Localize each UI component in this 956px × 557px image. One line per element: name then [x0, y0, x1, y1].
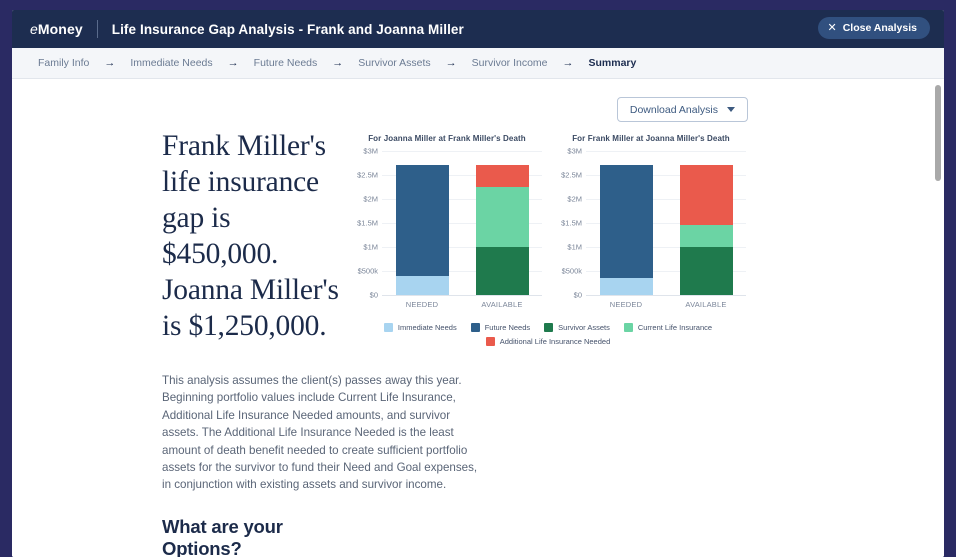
chart-bars [586, 151, 746, 295]
bar-needed[interactable] [396, 151, 449, 295]
close-analysis-button[interactable]: ✕ Close Analysis [818, 17, 930, 39]
chart-bars [382, 151, 542, 295]
emoney-logo: eMoney [30, 21, 83, 37]
bar-segment-survivor-assets[interactable] [476, 247, 529, 295]
breadcrumb-arrow-icon: → [104, 58, 115, 69]
breadcrumb-item-future-needs[interactable]: Future Needs [254, 57, 318, 69]
content-columns: Frank Miller's life insurance gap is $45… [12, 122, 944, 557]
page-title: Life Insurance Gap Analysis - Frank and … [112, 22, 464, 37]
legend-item-current-life-insurance[interactable]: Current Life Insurance [624, 323, 712, 332]
breadcrumb-arrow-icon: → [563, 58, 574, 69]
bar-segment-future-needs[interactable] [396, 165, 449, 275]
charts-container: For Joanna Miller at Frank Miller's Deat… [352, 128, 944, 309]
breadcrumb-item-immediate-needs[interactable]: Immediate Needs [130, 57, 212, 69]
breadcrumb-arrow-icon: → [446, 58, 457, 69]
breadcrumb: Family Info→Immediate Needs→Future Needs… [12, 48, 944, 79]
chart-title: For Frank Miller at Joanna Miller's Deat… [556, 134, 746, 143]
x-axis-labels: NEEDEDAVAILABLE [382, 300, 542, 309]
header-divider [97, 20, 98, 38]
legend-swatch [544, 323, 553, 332]
breadcrumb-arrow-icon: → [332, 58, 343, 69]
window-frame: eMoney Life Insurance Gap Analysis - Fra… [0, 0, 956, 557]
y-axis-tick-label: $1M [363, 243, 378, 252]
bar-segment-additional-life-insurance-needed[interactable] [680, 165, 733, 225]
breadcrumb-item-survivor-income[interactable]: Survivor Income [472, 57, 548, 69]
y-axis-tick-label: $1M [567, 243, 582, 252]
x-axis-tick-label: NEEDED [396, 300, 449, 309]
right-column: For Joanna Miller at Frank Miller's Deat… [344, 128, 944, 557]
legend-item-future-needs[interactable]: Future Needs [471, 323, 530, 332]
bar-segment-additional-life-insurance-needed[interactable] [476, 165, 529, 187]
x-axis-tick-label: AVAILABLE [680, 300, 733, 309]
chevron-down-icon [727, 107, 735, 112]
legend-swatch [486, 337, 495, 346]
close-analysis-label: Close Analysis [843, 22, 917, 34]
y-axis-tick-label: $1.5M [561, 219, 582, 228]
bar-segment-immediate-needs[interactable] [600, 278, 653, 295]
legend-item-additional-life-insurance-needed[interactable]: Additional Life Insurance Needed [486, 337, 611, 346]
breadcrumb-item-survivor-assets[interactable]: Survivor Assets [358, 57, 430, 69]
options-heading: What are your Options? [162, 516, 344, 557]
bar-segment-future-needs[interactable] [600, 165, 653, 278]
main-scroll-area: Download Analysis Frank Miller's life in… [12, 79, 944, 557]
app-window: eMoney Life Insurance Gap Analysis - Fra… [12, 10, 944, 557]
download-analysis-button[interactable]: Download Analysis [617, 97, 748, 122]
x-axis-labels: NEEDEDAVAILABLE [586, 300, 746, 309]
bar-segment-survivor-assets[interactable] [680, 247, 733, 295]
legend-row: Additional Life Insurance Needed [352, 337, 744, 346]
y-axis-tick-label: $2M [363, 195, 378, 204]
top-bar: eMoney Life Insurance Gap Analysis - Fra… [12, 10, 944, 48]
legend-label: Immediate Needs [398, 323, 457, 332]
breadcrumb-item-family-info[interactable]: Family Info [38, 57, 89, 69]
download-analysis-label: Download Analysis [630, 104, 718, 116]
logo-e: e [30, 21, 38, 37]
bar-available[interactable] [476, 151, 529, 295]
gridline [382, 295, 542, 296]
chart-2: For Frank Miller at Joanna Miller's Deat… [556, 134, 746, 309]
bar-available[interactable] [680, 151, 733, 295]
x-axis-tick-label: AVAILABLE [476, 300, 529, 309]
y-axis-tick-label: $3M [567, 147, 582, 156]
x-axis-tick-label: NEEDED [600, 300, 653, 309]
left-column: Frank Miller's life insurance gap is $45… [12, 128, 344, 557]
legend-item-immediate-needs[interactable]: Immediate Needs [384, 323, 457, 332]
legend-swatch [624, 323, 633, 332]
chart-1: For Joanna Miller at Frank Miller's Deat… [352, 134, 542, 309]
y-axis-tick-label: $2M [567, 195, 582, 204]
y-axis-tick-label: $3M [363, 147, 378, 156]
y-axis-tick-label: $2.5M [357, 171, 378, 180]
bar-segment-current-life-insurance[interactable] [476, 187, 529, 247]
legend-item-survivor-assets[interactable]: Survivor Assets [544, 323, 610, 332]
breadcrumb-arrow-icon: → [228, 58, 239, 69]
chart-plot-area: $0$500k$1M$1.5M$2M$2.5M$3MNEEDEDAVAILABL… [556, 151, 746, 309]
legend-label: Current Life Insurance [638, 323, 712, 332]
bar-segment-immediate-needs[interactable] [396, 276, 449, 295]
bar-segment-current-life-insurance[interactable] [680, 225, 733, 247]
gridline [586, 295, 746, 296]
y-axis-tick-label: $500k [562, 267, 582, 276]
legend-label: Future Needs [485, 323, 530, 332]
toolbar-row: Download Analysis [12, 79, 944, 122]
y-axis-tick-label: $1.5M [357, 219, 378, 228]
chart-legend: Immediate NeedsFuture NeedsSurvivor Asse… [352, 323, 744, 346]
scrollbar-thumb[interactable] [935, 85, 941, 181]
bar-needed[interactable] [600, 151, 653, 295]
legend-swatch [471, 323, 480, 332]
logo-money: Money [38, 21, 83, 37]
legend-label: Additional Life Insurance Needed [500, 337, 611, 346]
legend-swatch [384, 323, 393, 332]
y-axis-tick-label: $2.5M [561, 171, 582, 180]
chart-title: For Joanna Miller at Frank Miller's Deat… [352, 134, 542, 143]
chart-plot-area: $0$500k$1M$1.5M$2M$2.5M$3MNEEDEDAVAILABL… [352, 151, 542, 309]
legend-row: Immediate NeedsFuture NeedsSurvivor Asse… [352, 323, 744, 332]
legend-label: Survivor Assets [558, 323, 610, 332]
close-icon: ✕ [827, 23, 836, 34]
y-axis-tick-label: $0 [574, 291, 582, 300]
breadcrumb-item-summary[interactable]: Summary [589, 57, 637, 69]
gap-headline: Frank Miller's life insurance gap is $45… [162, 128, 344, 344]
y-axis-tick-label: $500k [358, 267, 378, 276]
y-axis-tick-label: $0 [370, 291, 378, 300]
